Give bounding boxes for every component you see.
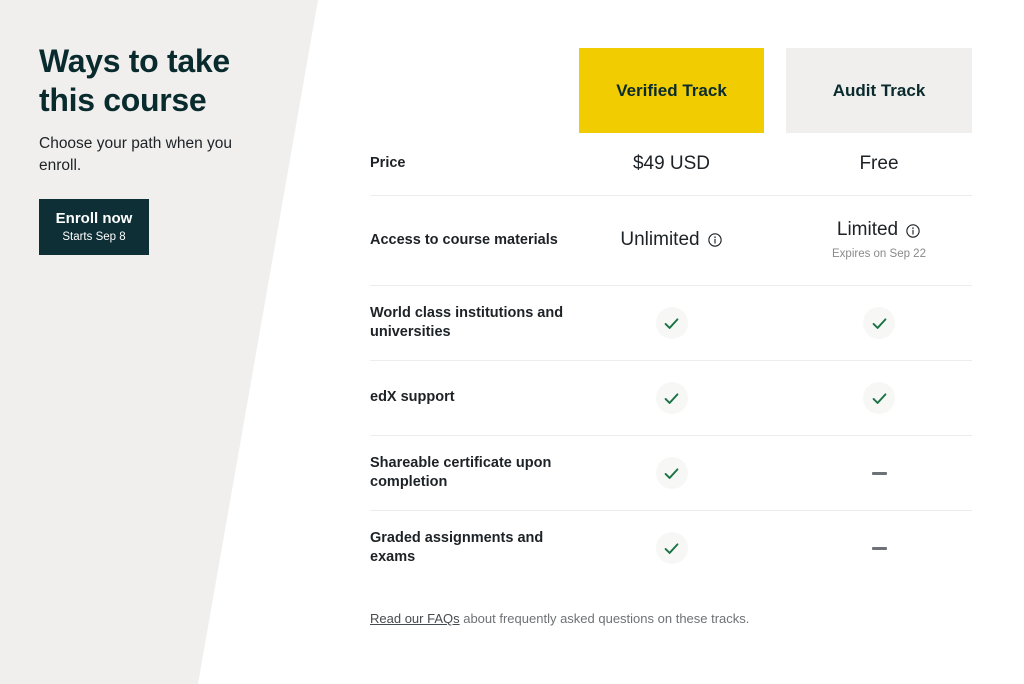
check-icon [656,457,688,489]
table-row: Graded assignments and exams [370,510,972,585]
check-icon [656,382,688,414]
cell-verified-access: Unlimited [579,229,764,252]
audit-access-value: Limited [837,219,898,242]
verified-access-value: Unlimited [620,229,699,252]
cell-verified-price: $49 USD [579,153,764,176]
page-subtitle: Choose your path when you enroll. [39,133,251,177]
audit-access-expiry-note: Expires on Sep 22 [832,248,926,262]
cell-audit-world-class-institutions [786,307,972,339]
table-row: Price $49 USD Free [370,133,972,195]
page-title: Ways to take this course [39,42,269,120]
enroll-now-button[interactable]: Enroll now Starts Sep 8 [39,199,149,255]
faq-footnote: Read our FAQs about frequently asked que… [370,610,972,628]
left-intro-panel: Ways to take this course Choose your pat… [0,0,330,684]
read-our-faqs-link[interactable]: Read our FAQs [370,611,460,626]
column-header-verified-track[interactable]: Verified Track [579,48,764,133]
check-icon [656,532,688,564]
row-label-access-to-course-materials: Access to course materials [370,231,570,250]
info-icon[interactable] [905,223,921,239]
audit-track-label: Audit Track [833,81,926,101]
check-icon [863,382,895,414]
row-label-price: Price [370,154,570,173]
verified-price-value: $49 USD [633,153,710,176]
table-row: Shareable certificate upon completion [370,435,972,510]
audit-price-value: Free [859,153,898,176]
enroll-button-start-date: Starts Sep 8 [55,231,133,245]
cell-verified-graded-assignments [579,532,764,564]
row-label-shareable-certificate: Shareable certificate upon completion [370,454,570,493]
dash-icon [872,547,887,550]
row-label-edx-support: edX support [370,388,570,407]
track-comparison-table: Verified Track Audit Track Price $49 USD… [370,0,972,684]
row-label-world-class-institutions: World class institutions and universitie… [370,304,570,343]
cell-audit-shareable-certificate [786,472,972,475]
verified-track-label: Verified Track [616,81,727,101]
cell-verified-world-class-institutions [579,307,764,339]
dash-icon [872,472,887,475]
cell-audit-edx-support [786,382,972,414]
check-icon [656,307,688,339]
track-header-row: Verified Track Audit Track [370,0,972,133]
check-icon [863,307,895,339]
row-label-graded-assignments: Graded assignments and exams [370,529,570,568]
table-row: World class institutions and universitie… [370,285,972,360]
column-header-audit-track[interactable]: Audit Track [786,48,972,133]
left-panel-content: Ways to take this course Choose your pat… [39,42,289,255]
cell-verified-shareable-certificate [579,457,764,489]
cell-audit-access: Limited Expires on Sep 22 [786,219,972,262]
table-row: Access to course materials Unlimited Li [370,195,972,285]
info-icon[interactable] [707,232,723,248]
cell-verified-edx-support [579,382,764,414]
cell-audit-price: Free [786,153,972,176]
cell-audit-graded-assignments [786,547,972,550]
table-row: edX support [370,360,972,435]
ways-to-take-course-section: Ways to take this course Choose your pat… [0,0,1024,684]
faq-footnote-rest: about frequently asked questions on thes… [460,611,750,626]
enroll-button-label: Enroll now [55,210,133,228]
